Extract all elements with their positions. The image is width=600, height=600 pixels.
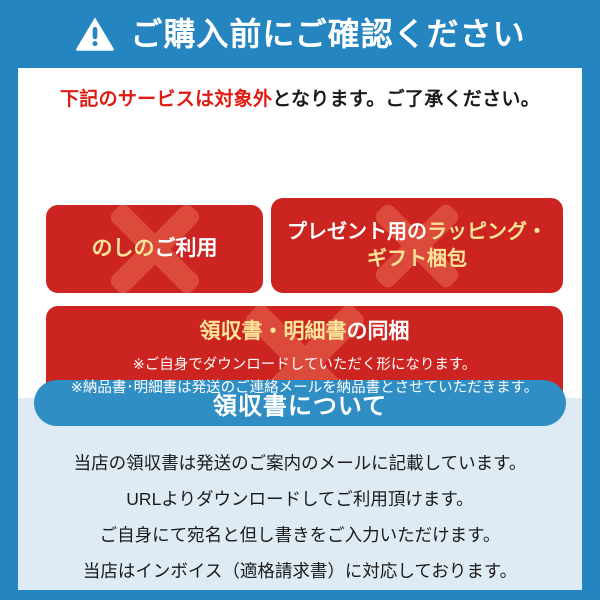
receipt-info-body: 当店の領収書は発送のご案内のメールに記載しています。 URLよりダウンロードして… — [18, 446, 582, 590]
notice-banner: ご購入前にご確認ください 下記のサービスは対象外となります。ご了承ください。 の… — [10, 0, 590, 590]
exclusions-panel: 下記のサービスは対象外となります。ご了承ください。 のしのご利用 プレゼント用の… — [18, 68, 582, 398]
subtitle-emphasis: 下記のサービスは対象外 — [60, 89, 272, 110]
receipt-box-title: 領収書・明細書の同梱 — [200, 317, 410, 347]
label-part-white: プレゼント用の — [287, 221, 427, 243]
label-line-2: ギフト梱包 — [287, 246, 547, 272]
exclusions-subtitle: 下記のサービスは対象外となります。ご了承ください。 — [18, 84, 582, 111]
receipt-note-2: ※納品書･明細書は発送のご連絡メールを納品書とさせていただきます。 — [71, 377, 538, 399]
label-part-yellow: ラッピング・ — [427, 221, 547, 243]
excluded-service-gift-wrapping: プレゼント用のラッピング・ ギフト梱包 — [271, 198, 563, 293]
subtitle-plain: となります。ご了承ください。 — [272, 89, 540, 110]
title-part-white: の同梱 — [347, 320, 410, 343]
excluded-service-noshi: のしのご利用 — [46, 205, 263, 293]
body-line: 当店はインボイス（適格請求書）に対応しております。 — [18, 554, 582, 590]
label-part-yellow: のしの — [92, 237, 155, 260]
body-line: URLよりダウンロードしてご利用頂けます。 — [18, 482, 582, 518]
title-part-yellow: 領収書・明細書 — [200, 320, 347, 343]
banner-header: ご購入前にご確認ください — [10, 0, 590, 68]
body-line: 当店の領収書は発送のご案内のメールに記載しています。 — [18, 446, 582, 482]
excluded-service-label: のしのご利用 — [92, 235, 218, 263]
label-part-yellow-2: ギフト梱包 — [367, 248, 467, 270]
receipt-info-section: 領収書について 当店の領収書は発送のご案内のメールに記載しています。 URLより… — [18, 398, 582, 590]
receipt-note-1: ※ご自身でダウンロードしていただく形になります。 — [71, 354, 538, 376]
label-part-white: ご利用 — [155, 237, 218, 260]
label-line-1: プレゼント用のラッピング・ — [287, 219, 547, 245]
page-title: ご購入前にご確認ください — [130, 18, 525, 50]
warning-triangle-icon — [74, 15, 116, 53]
body-line: ご自身にて宛名と但し書きをご入力いただけます。 — [18, 518, 582, 554]
excluded-service-label: プレゼント用のラッピング・ ギフト梱包 — [287, 219, 547, 272]
receipt-box-notes: ※ご自身でダウンロードしていただく形になります。 ※納品書･明細書は発送のご連絡… — [71, 354, 538, 399]
